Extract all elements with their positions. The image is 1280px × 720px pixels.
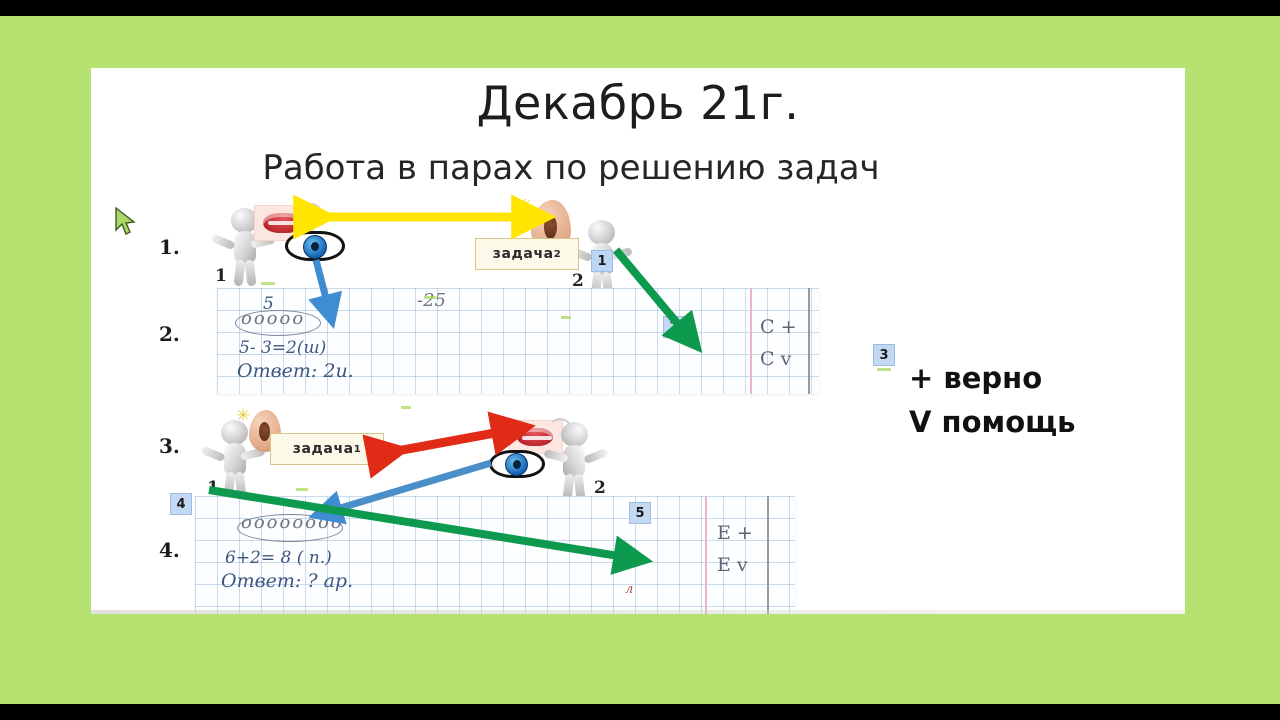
figure-head — [561, 422, 588, 447]
task-label-text: задача — [293, 441, 354, 457]
letterbox-bottom — [0, 704, 1280, 720]
eye-pupil — [513, 460, 521, 469]
letterbox-top — [0, 0, 1280, 16]
row3-badge-right: 5 — [629, 502, 651, 524]
task-label-index: 1 — [354, 444, 362, 455]
notebook-edge-line — [808, 288, 810, 394]
eye-icon — [285, 231, 345, 261]
notebook-edge-line — [767, 496, 769, 614]
notebook-bottom: oooooooo 6+2= 8 ( n.) Ответ: ? ар. л Е +… — [195, 496, 795, 614]
row-label-4: 4. — [159, 538, 180, 562]
row1-figure-left-number: 1 — [215, 266, 227, 286]
mouse-cursor-icon — [113, 206, 139, 236]
handwriting-equation: 5- 3=2(ш) — [239, 338, 326, 358]
row-label-3: 3. — [159, 434, 180, 458]
speech-curl-icon — [299, 203, 323, 227]
artifact-speck — [561, 316, 571, 319]
teacher-mark-plus: Е + — [717, 522, 753, 544]
row2-badge: 2 — [663, 316, 685, 338]
row-label-2: 2. — [159, 322, 180, 346]
row-label-1: 1. — [159, 235, 180, 259]
figure-leg-right — [234, 472, 246, 499]
teacher-mark-check: Е ᴠ — [717, 554, 748, 576]
row1-figure-right-badge: 1 — [591, 250, 613, 272]
slide-subtitle: Работа в парах по решению задач — [131, 148, 1011, 188]
figure-arm-left — [200, 446, 225, 462]
eye-icon — [489, 450, 545, 478]
legend-line-help: V помощь — [909, 405, 1076, 439]
figure-head — [588, 220, 615, 245]
handwriting-answer: Ответ: ? ар. — [221, 570, 353, 592]
artifact-speck — [261, 282, 275, 285]
row3-figure-right — [546, 422, 600, 500]
handwriting-circles: ooooo — [241, 308, 305, 329]
row3-badge-left: 4 — [170, 493, 192, 515]
row3-figure-left-number: 1 — [207, 478, 219, 498]
task-label-1: задача1 — [270, 433, 384, 465]
sparkle-icon: ✳ — [518, 197, 532, 214]
teacher-mark-plus: С + — [760, 316, 797, 338]
task-label-text: задача — [493, 246, 554, 262]
notebook-margin-line — [750, 288, 752, 394]
mouth-shape — [263, 213, 303, 233]
notebook-margin-line — [705, 496, 707, 614]
handwriting-circles: oooooooo — [241, 512, 344, 533]
artifact-speck — [424, 296, 436, 299]
artifact-speck — [401, 406, 411, 409]
notebook-top: 5 -25 ooooo 5- 3=2(ш) Ответ: 2и. С + С ᴠ — [217, 288, 819, 394]
slide-title: Декабрь 21г. — [91, 76, 1185, 130]
figure-leg-right — [244, 260, 256, 287]
eye-iris — [505, 453, 528, 476]
eye-iris — [303, 235, 327, 259]
figure-arm-left — [583, 448, 608, 464]
artifact-speck — [877, 368, 891, 371]
ear-canal — [544, 215, 557, 239]
legend-badge: 3 — [873, 344, 895, 366]
figure-leg-left — [233, 260, 245, 287]
slide-canvas: Декабрь 21г. Работа в парах по решению з… — [91, 68, 1185, 614]
handwriting-answer: Ответ: 2и. — [237, 360, 354, 382]
row3-figure-right-number: 2 — [594, 478, 606, 498]
ear-canal — [259, 422, 270, 441]
figure-leg-left — [223, 472, 235, 499]
eye-pupil — [311, 242, 319, 251]
figure-arm-left — [210, 234, 235, 250]
handwriting-equation: 6+2= 8 ( n.) — [225, 548, 332, 568]
task-label-index: 2 — [554, 249, 562, 260]
legend-line-correct: + верно — [909, 361, 1042, 395]
handwriting-minus-number: -25 — [417, 290, 446, 311]
sparkle-icon: ✳ — [236, 407, 250, 424]
artifact-speck — [296, 488, 308, 491]
task-label-2: задача2 — [475, 238, 579, 270]
teacher-mark-check: С ᴠ — [760, 348, 791, 370]
handwriting-small-mark: л — [625, 582, 633, 597]
